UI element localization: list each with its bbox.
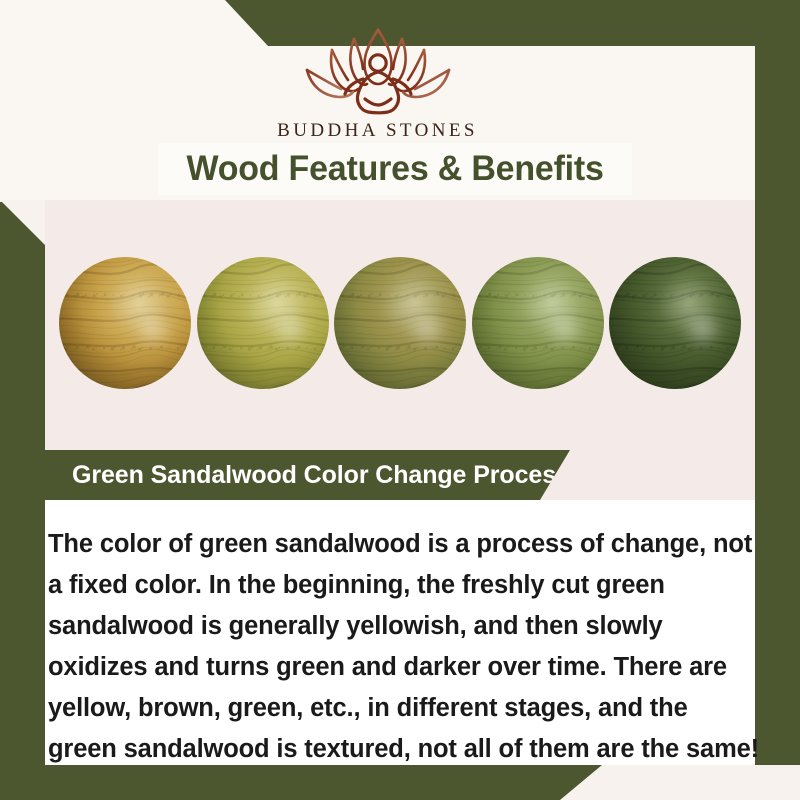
brand-logo: BUDDHA STONES [0, 22, 755, 142]
wood-bead-stage-1 [59, 257, 191, 389]
bead-specular-highlight [545, 312, 585, 346]
wood-bead-stage-4 [472, 257, 604, 389]
bead-color-progression [45, 248, 755, 398]
section-banner: Green Sandalwood Color Change Process [45, 450, 570, 500]
corner-wedge-top-left [0, 200, 46, 246]
wood-bead-stage-2 [197, 257, 329, 389]
page-title: Wood Features & Benefits [186, 149, 603, 189]
bead-specular-highlight [408, 312, 448, 346]
bead-specular-highlight [683, 312, 723, 346]
infographic-poster: BUDDHA STONES Wood Features & Benefits G… [0, 0, 800, 800]
title-band: Wood Features & Benefits [158, 143, 632, 195]
corner-wedge-bottom-right [560, 765, 800, 800]
lotus-meditation-icon [285, 22, 471, 118]
wood-bead-stage-3 [334, 257, 466, 389]
section-paragraph: The color of green sandalwood is a proce… [48, 524, 760, 770]
bead-specular-highlight [270, 312, 310, 346]
bead-specular-highlight [133, 312, 173, 346]
section-heading: Green Sandalwood Color Change Process [72, 461, 570, 490]
wood-bead-stage-5 [609, 257, 741, 389]
brand-name: BUDDHA STONES [0, 120, 755, 142]
